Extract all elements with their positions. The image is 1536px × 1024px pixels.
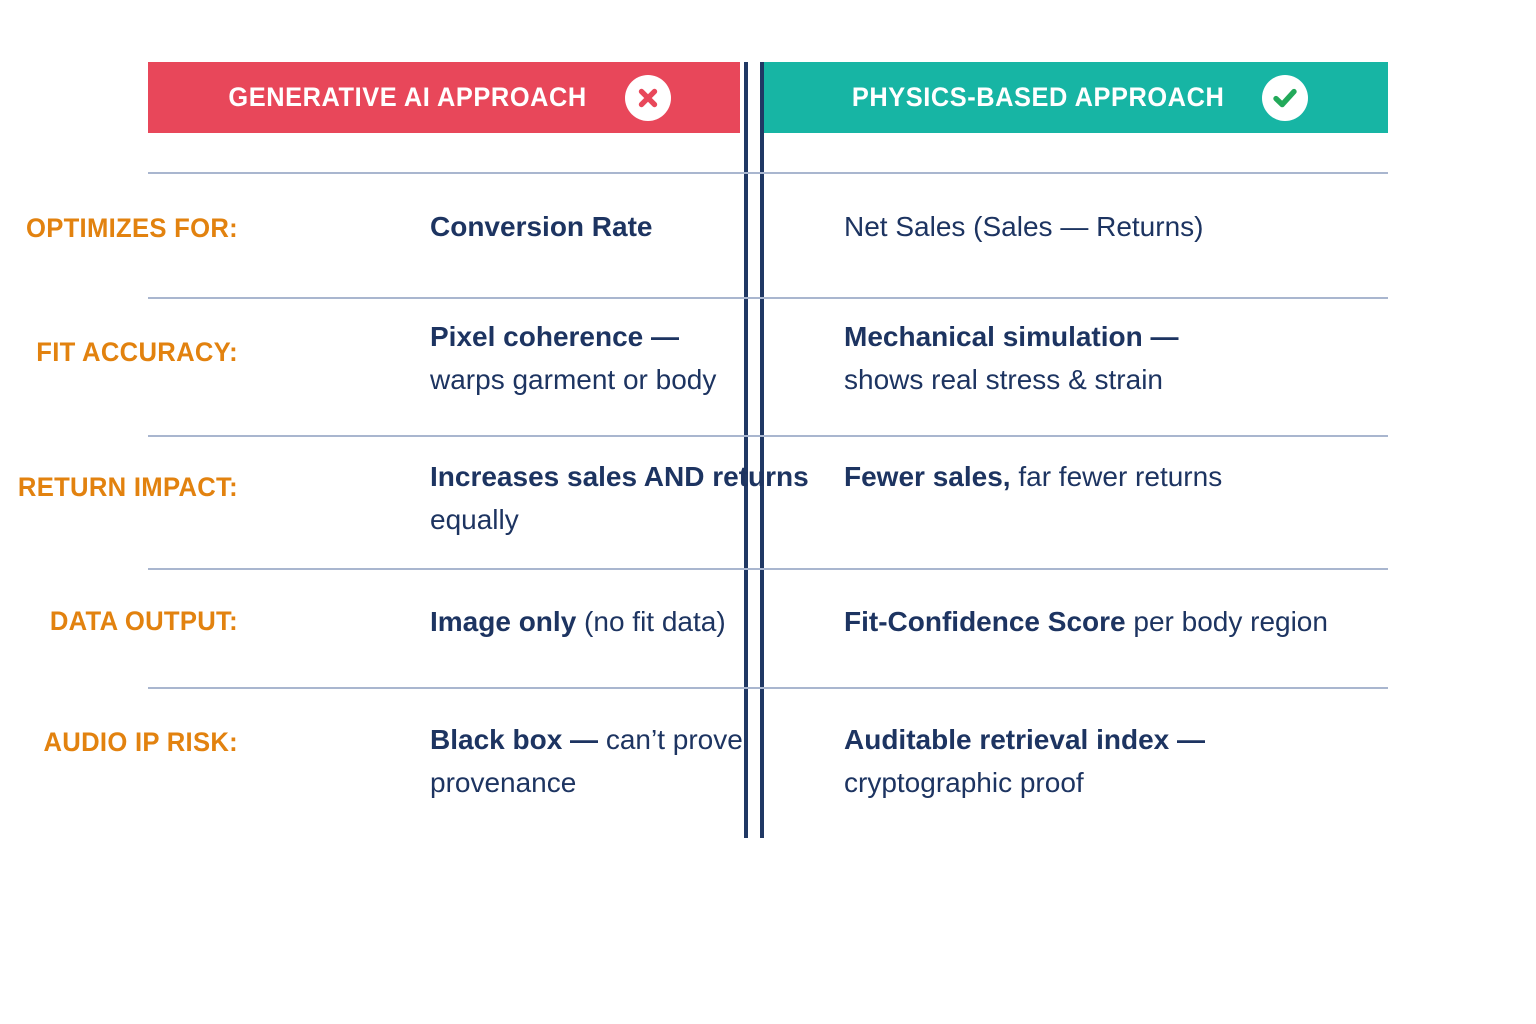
row-label-data-output: DATA OUTPUT: [12,606,238,637]
cell-generative-fit-accuracy: Pixel coherence —warps garment or body [430,315,860,401]
cell-strong-text: Black box — [430,724,598,755]
cell-generative-return-impact: Increases sales AND returns equally [430,455,860,541]
cell-strong-text: Image only [430,606,576,637]
check-circle-icon [1262,75,1308,121]
cell-regular-text: (no fit data) [576,606,725,637]
cell-regular-text: equally [430,504,519,535]
row-label-fit-accuracy: FIT ACCURACY: [12,337,238,368]
cell-physics-fit-accuracy: Mechanical simulation —shows real stress… [844,315,1384,401]
cell-strong-text: Fewer sales, [844,461,1011,492]
cell-regular-text: shows real stress & strain [844,364,1163,395]
row-divider-3 [148,435,1388,437]
row-divider-4 [148,568,1388,570]
row-divider-1 [148,172,1388,174]
cell-physics-optimizes-for: Net Sales (Sales — Returns) [844,205,1384,248]
row-label-return-impact: RETURN IMPACT: [12,472,238,503]
cell-regular-text: warps garment or body [430,364,716,395]
header-generative-ai: GENERATIVE AI APPROACH [148,62,740,133]
header-physics-based: PHYSICS-BASED APPROACH [760,62,1388,133]
cell-regular-text: cryptographic proof [844,767,1084,798]
cell-strong-text: Conversion Rate [430,211,653,242]
cell-strong-text: Mechanical simulation — [844,321,1179,352]
cross-circle-icon [625,75,671,121]
cell-generative-audio-ip-risk: Black box — can’t prove provenance [430,718,860,804]
row-divider-2 [148,297,1388,299]
cell-strong-text: Pixel coherence — [430,321,679,352]
cell-strong-text: Fit-Confidence Score [844,606,1126,637]
row-label-audio-ip-risk: AUDIO IP RISK: [12,727,238,758]
cell-physics-audio-ip-risk: Auditable retrieval index —cryptographic… [844,718,1384,804]
cell-strong-text: Increases sales AND returns [430,461,809,492]
cell-regular-text: per body region [1126,606,1328,637]
cell-generative-data-output: Image only (no fit data) [430,600,860,643]
cell-regular-text: Net Sales (Sales — Returns) [844,211,1203,242]
cell-regular-text: far fewer returns [1011,461,1223,492]
cell-physics-return-impact: Fewer sales, far fewer returns [844,455,1384,498]
row-divider-5 [148,687,1388,689]
header-generative-ai-title: GENERATIVE AI APPROACH [229,82,587,113]
row-label-optimizes-for: OPTIMIZES FOR: [12,213,238,244]
table-header: GENERATIVE AI APPROACH PHYSICS-BASED APP… [148,62,1388,133]
comparison-table: GENERATIVE AI APPROACH PHYSICS-BASED APP… [0,0,1536,1024]
cell-physics-data-output: Fit-Confidence Score per body region [844,600,1384,643]
header-physics-based-title: PHYSICS-BASED APPROACH [852,82,1224,113]
cell-strong-text: Auditable retrieval index — [844,724,1205,755]
cell-generative-optimizes-for: Conversion Rate [430,205,860,248]
